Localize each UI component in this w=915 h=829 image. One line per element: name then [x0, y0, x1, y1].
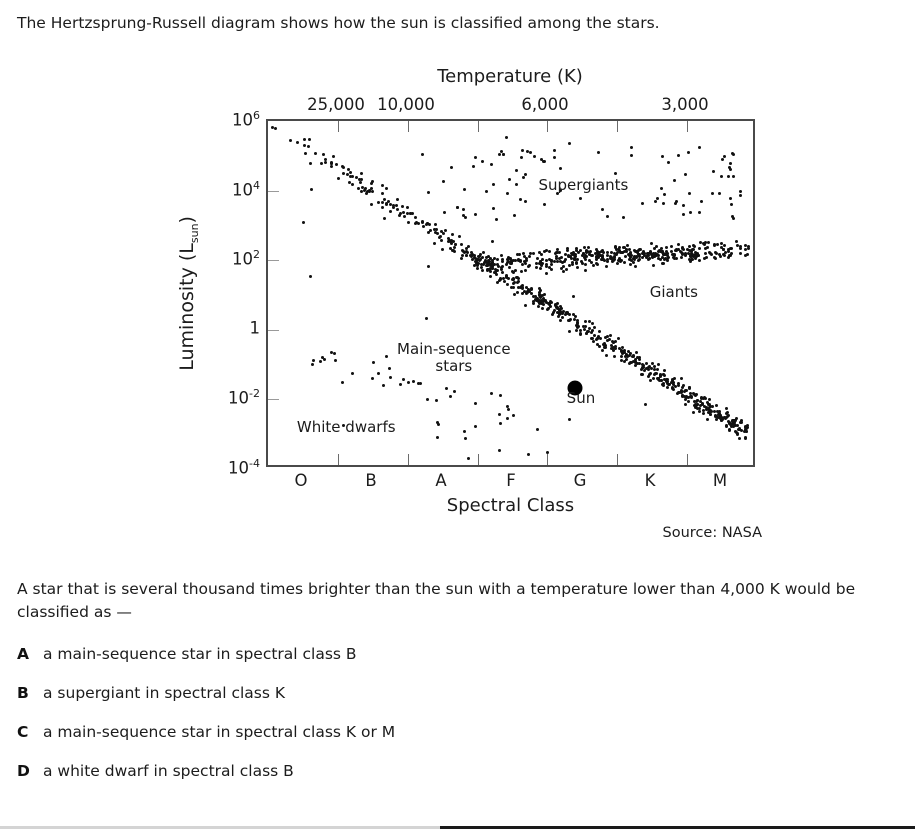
temperature-tick-label: 3,000	[661, 95, 708, 114]
star-point	[492, 207, 495, 210]
star-point	[435, 399, 438, 402]
star-point	[632, 261, 635, 264]
star-point	[514, 269, 517, 272]
star-point	[716, 243, 719, 246]
star-point	[682, 204, 685, 207]
star-point	[515, 183, 518, 186]
star-point	[685, 395, 688, 398]
star-point	[576, 266, 579, 269]
star-point	[496, 258, 499, 261]
star-point	[739, 247, 742, 250]
star-point	[518, 253, 521, 256]
star-point	[370, 182, 373, 185]
star-point	[718, 192, 721, 195]
star-point	[735, 240, 738, 243]
star-point	[303, 144, 306, 147]
star-point	[744, 436, 747, 439]
star-point	[427, 231, 430, 234]
star-point	[308, 138, 311, 141]
star-point	[381, 206, 384, 209]
star-point	[553, 156, 556, 159]
answer-choice-d[interactable]: Da white dwarf in spectral class B	[17, 760, 901, 782]
star-point	[421, 153, 424, 156]
star-point	[595, 258, 598, 261]
star-point	[506, 417, 509, 420]
star-point	[360, 172, 363, 175]
star-point	[553, 260, 556, 263]
star-point	[359, 181, 362, 184]
star-point	[474, 425, 477, 428]
star-point	[601, 208, 604, 211]
star-point	[661, 155, 664, 158]
star-point	[681, 253, 684, 256]
star-point	[503, 280, 506, 283]
spectral-class-label-g: G	[574, 471, 587, 490]
star-point	[687, 151, 690, 154]
star-point	[519, 198, 522, 201]
plot-annotation-main-sequence: Main-sequence	[397, 340, 511, 358]
star-point	[703, 257, 706, 260]
star-point	[663, 193, 666, 196]
star-point	[389, 376, 392, 379]
star-point	[381, 201, 384, 204]
star-point	[711, 192, 714, 195]
star-point	[342, 166, 345, 169]
star-point	[711, 405, 714, 408]
star-point	[520, 270, 523, 273]
star-point	[532, 300, 535, 303]
star-point	[517, 280, 520, 283]
star-point	[549, 305, 552, 308]
star-point	[739, 194, 742, 197]
star-point	[334, 359, 337, 362]
star-point	[377, 201, 380, 204]
star-point	[372, 361, 375, 364]
star-point	[728, 429, 731, 432]
luminosity-axis-title-end: )	[176, 216, 198, 223]
star-point	[513, 214, 516, 217]
star-point	[704, 252, 707, 255]
star-point	[591, 322, 594, 325]
star-point	[396, 208, 399, 211]
star-point	[614, 245, 617, 248]
plot-annotation-giants: Giants	[650, 283, 698, 301]
star-point	[698, 259, 701, 262]
star-point	[738, 437, 741, 440]
star-point	[381, 192, 384, 195]
star-point	[498, 153, 501, 156]
star-point	[536, 257, 539, 260]
star-point	[628, 248, 631, 251]
star-point	[725, 416, 728, 419]
star-point	[566, 249, 569, 252]
luminosity-tick-label: 10-4	[228, 457, 260, 478]
star-point	[412, 380, 415, 383]
star-point	[524, 173, 527, 176]
star-point	[530, 287, 533, 290]
star-point	[330, 165, 333, 168]
star-point	[746, 253, 749, 256]
star-point	[469, 254, 472, 257]
star-point	[584, 258, 587, 261]
star-point	[634, 265, 637, 268]
star-point	[670, 245, 673, 248]
star-point	[543, 250, 546, 253]
star-point	[623, 250, 626, 253]
plot-annotation-white-dwarfs: White dwarfs	[297, 418, 396, 436]
star-point	[698, 247, 701, 250]
star-point	[508, 266, 511, 269]
star-point	[314, 152, 317, 155]
star-point	[713, 410, 716, 413]
star-point	[593, 326, 596, 329]
star-point	[450, 166, 453, 169]
star-point	[684, 403, 687, 406]
star-point	[736, 244, 739, 247]
star-point	[414, 222, 417, 225]
star-point	[302, 221, 305, 224]
spectral-class-label-k: K	[645, 471, 656, 490]
star-point	[729, 254, 732, 257]
star-point	[559, 167, 562, 170]
star-point	[649, 379, 652, 382]
star-point	[548, 250, 551, 253]
star-point	[729, 197, 732, 200]
star-point	[744, 248, 747, 251]
star-point	[425, 223, 428, 226]
top-axis-tick	[478, 121, 479, 132]
star-point	[388, 367, 391, 370]
star-point	[617, 337, 620, 340]
star-point	[635, 351, 638, 354]
star-point	[463, 188, 466, 191]
star-point	[500, 150, 503, 153]
star-point	[307, 145, 310, 148]
answer-choice-letter: C	[17, 721, 43, 743]
star-point	[737, 428, 740, 431]
star-point	[499, 394, 502, 397]
answer-choice-a[interactable]: Aa main-sequence star in spectral class …	[17, 643, 901, 665]
top-axis-tick	[547, 121, 548, 132]
figure-source-note: Source: NASA	[0, 525, 762, 541]
star-point	[474, 156, 477, 159]
star-point	[537, 305, 540, 308]
star-point	[612, 349, 615, 352]
star-point	[654, 200, 657, 203]
star-point	[543, 203, 546, 206]
star-point	[319, 360, 322, 363]
star-point	[720, 175, 723, 178]
star-point	[444, 229, 447, 232]
star-point	[712, 170, 715, 173]
star-point	[721, 158, 724, 161]
star-point	[532, 252, 535, 255]
spectral-class-axis-title: Spectral Class	[266, 495, 755, 516]
star-point	[365, 192, 368, 195]
answer-choice-c[interactable]: Ca main-sequence star in spectral class …	[17, 721, 901, 743]
bottom-axis-tick	[547, 454, 548, 465]
star-point	[630, 146, 633, 149]
star-point	[521, 292, 524, 295]
star-point	[571, 261, 574, 264]
star-point	[493, 271, 496, 274]
star-point	[723, 155, 726, 158]
star-point	[675, 257, 678, 260]
star-point	[657, 363, 660, 366]
star-point	[520, 156, 523, 159]
star-point	[645, 367, 648, 370]
star-point	[382, 384, 385, 387]
star-point	[524, 304, 527, 307]
star-point	[659, 374, 662, 377]
star-point	[507, 277, 510, 280]
star-point	[396, 198, 399, 201]
star-point	[563, 260, 566, 263]
star-point	[425, 317, 428, 320]
star-point	[675, 249, 678, 252]
top-axis-tick	[338, 121, 339, 132]
luminosity-tick-label: 10-2	[228, 387, 260, 408]
star-point	[568, 142, 571, 145]
star-point	[399, 383, 402, 386]
star-point	[622, 246, 625, 249]
star-point	[463, 430, 466, 433]
star-point	[481, 160, 484, 163]
bottom-axis-tick	[408, 454, 409, 465]
star-point	[513, 293, 516, 296]
star-point	[553, 149, 556, 152]
star-point	[525, 286, 528, 289]
star-point	[458, 235, 461, 238]
star-point	[647, 375, 650, 378]
star-point	[545, 272, 548, 275]
star-point	[385, 355, 388, 358]
star-point	[357, 187, 360, 190]
star-point	[535, 262, 538, 265]
star-point	[540, 253, 543, 256]
star-point	[556, 260, 559, 263]
star-point	[383, 198, 386, 201]
star-point	[684, 253, 687, 256]
star-point	[351, 372, 354, 375]
star-point	[559, 319, 562, 322]
star-point	[324, 161, 327, 164]
answer-choice-letter: D	[17, 760, 43, 782]
star-point	[460, 257, 463, 260]
star-point	[465, 254, 468, 257]
star-point	[482, 251, 485, 254]
star-point	[460, 243, 463, 246]
star-point	[501, 260, 504, 263]
star-point	[613, 255, 616, 258]
star-point	[512, 286, 515, 289]
star-point	[680, 377, 683, 380]
star-point	[519, 260, 522, 263]
star-point	[707, 241, 710, 244]
star-point	[349, 171, 352, 174]
star-point	[579, 197, 582, 200]
star-point	[565, 268, 568, 271]
star-point	[546, 308, 549, 311]
star-point	[597, 151, 600, 154]
star-point	[507, 408, 510, 411]
star-point	[516, 291, 519, 294]
star-point	[456, 206, 459, 209]
star-point	[727, 175, 730, 178]
star-point	[526, 291, 529, 294]
star-point	[309, 162, 312, 165]
star-point	[383, 217, 386, 220]
star-point	[598, 330, 601, 333]
star-point	[632, 257, 635, 260]
answer-choice-text: a supergiant in spectral class K	[43, 682, 285, 704]
temperature-tick-labels: 25,00010,0006,0003,000	[266, 95, 755, 117]
star-point	[680, 256, 683, 259]
star-point	[501, 258, 504, 261]
star-point	[441, 248, 444, 251]
star-point	[689, 392, 692, 395]
star-point	[732, 153, 735, 156]
star-point	[464, 437, 467, 440]
star-point	[521, 149, 524, 152]
star-point	[360, 178, 363, 181]
star-point	[370, 203, 373, 206]
left-axis-tick	[268, 260, 279, 261]
star-point	[566, 247, 569, 250]
star-point	[663, 369, 666, 372]
answer-choice-b[interactable]: Ba supergiant in spectral class K	[17, 682, 901, 704]
star-point	[528, 255, 531, 258]
star-point	[729, 162, 732, 165]
star-point	[436, 436, 439, 439]
star-point	[421, 220, 424, 223]
star-point	[698, 410, 701, 413]
spectral-class-label-m: M	[713, 471, 727, 490]
star-point	[524, 200, 527, 203]
star-point	[600, 258, 603, 261]
star-point	[499, 278, 502, 281]
star-point	[454, 243, 457, 246]
star-point	[346, 173, 349, 176]
star-point	[688, 192, 691, 195]
star-point	[661, 383, 664, 386]
star-point	[598, 345, 601, 348]
star-point	[451, 233, 454, 236]
star-point	[653, 373, 656, 376]
answer-choice-text: a white dwarf in spectral class B	[43, 760, 294, 782]
star-point	[576, 258, 579, 261]
star-point	[667, 161, 670, 164]
star-point	[584, 320, 587, 323]
star-point	[702, 412, 705, 415]
star-point	[650, 242, 653, 245]
star-point	[506, 192, 509, 195]
star-point	[371, 377, 374, 380]
star-point	[453, 246, 456, 249]
star-point	[335, 163, 338, 166]
star-point	[414, 216, 417, 219]
star-point	[662, 373, 665, 376]
star-point	[522, 176, 525, 179]
star-point	[311, 363, 314, 366]
star-point	[609, 334, 612, 337]
star-point	[685, 389, 688, 392]
star-point	[605, 265, 608, 268]
star-point	[407, 381, 410, 384]
star-point	[568, 330, 571, 333]
star-point	[323, 358, 326, 361]
star-point	[541, 307, 544, 310]
star-point	[402, 378, 405, 381]
star-point	[662, 262, 665, 265]
star-point	[629, 263, 632, 266]
star-point	[442, 180, 445, 183]
star-point	[695, 255, 698, 258]
luminosity-tick-label: 1	[250, 319, 261, 338]
star-point	[573, 257, 576, 260]
star-point	[622, 216, 625, 219]
top-axis-tick	[408, 121, 409, 132]
star-point	[662, 202, 665, 205]
star-point	[341, 381, 344, 384]
star-point	[434, 223, 437, 226]
star-point	[524, 269, 527, 272]
star-point	[511, 270, 514, 273]
star-point	[505, 136, 508, 139]
star-point	[513, 281, 516, 284]
star-point	[621, 346, 624, 349]
star-point	[584, 263, 587, 266]
star-point	[734, 419, 737, 422]
star-point	[406, 206, 409, 209]
star-point	[700, 200, 703, 203]
star-point	[745, 430, 748, 433]
star-point	[606, 260, 609, 263]
star-point	[506, 283, 509, 286]
star-point	[562, 270, 565, 273]
spectral-class-label-f: F	[506, 471, 516, 490]
star-point	[614, 340, 617, 343]
star-point	[673, 377, 676, 380]
star-point	[508, 178, 511, 181]
star-point	[718, 253, 721, 256]
star-point	[624, 255, 627, 258]
star-point	[289, 139, 292, 142]
star-point	[558, 251, 561, 254]
star-point	[690, 396, 693, 399]
star-point	[492, 183, 495, 186]
star-point	[641, 202, 644, 205]
star-point	[613, 355, 616, 358]
star-point	[691, 258, 694, 261]
star-point	[560, 256, 563, 259]
star-point	[274, 127, 277, 130]
star-point	[296, 141, 299, 144]
star-point	[476, 267, 479, 270]
left-axis-tick	[268, 330, 279, 331]
star-point	[536, 428, 539, 431]
star-point	[498, 413, 501, 416]
star-point	[538, 251, 541, 254]
spectral-class-tick-labels: OBAFGKM	[266, 471, 755, 493]
star-point	[727, 250, 730, 253]
star-point	[556, 307, 559, 310]
star-point	[601, 349, 604, 352]
hr-diagram-figure: Temperature (K) 25,00010,0006,0003,000 S…	[0, 58, 915, 548]
star-point	[402, 211, 405, 214]
star-point	[575, 329, 578, 332]
star-point	[575, 262, 578, 265]
